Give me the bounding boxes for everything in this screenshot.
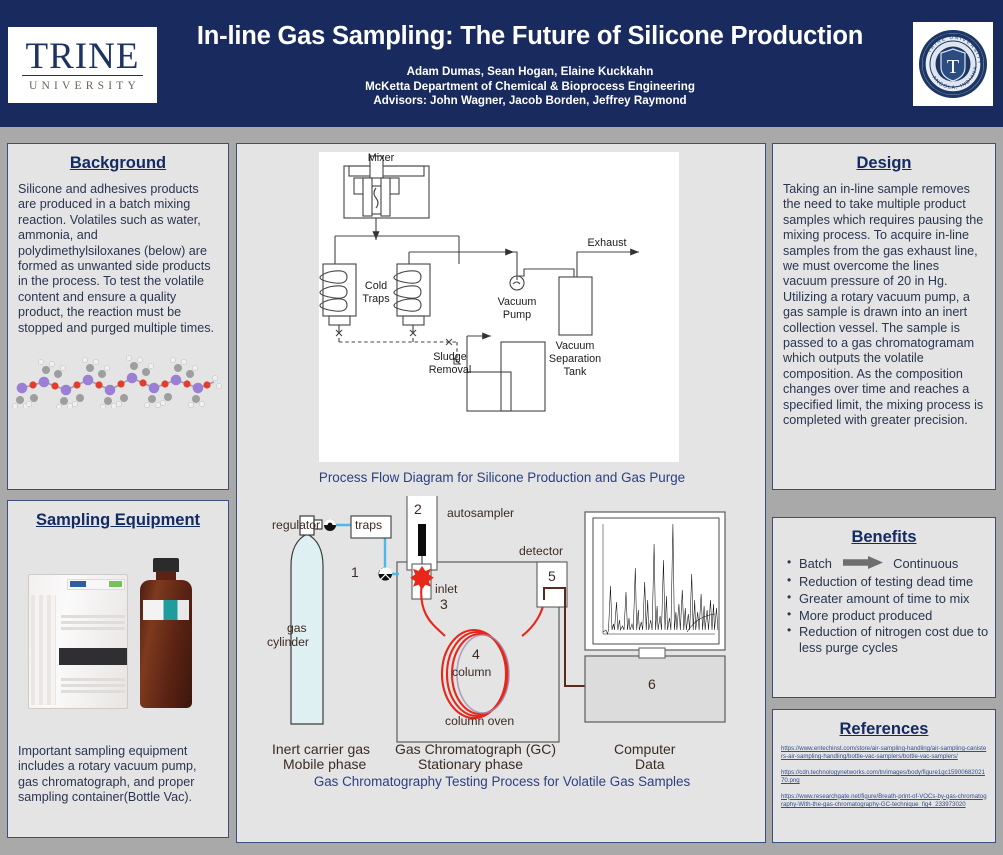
svg-text:Exhaust: Exhaust xyxy=(587,237,626,249)
svg-text:T: T xyxy=(947,56,959,78)
trine-university-seal: T TRINE UNIVERSITY ANGOLA, INDIANA xyxy=(913,22,993,106)
benefit-pre-0: Batch xyxy=(799,556,832,571)
svg-text:Mixer: Mixer xyxy=(368,152,395,164)
svg-text:Pump: Pump xyxy=(503,309,531,321)
reference-link-1[interactable]: https://www.entechinst.com/store/air-sam… xyxy=(781,745,987,762)
list-item: Reduction of nitrogen cost due to less p… xyxy=(785,624,989,656)
svg-text:Cold: Cold xyxy=(365,280,387,292)
poster-canvas: TRINE UNIVERSITY In-line Gas Sampling: T… xyxy=(0,0,1003,855)
panel-design: Design Taking an in-line sample removes … xyxy=(772,143,996,490)
department-line: McKetta Department of Chemical & Bioproc… xyxy=(170,80,890,95)
benefit-pre-4: Reduction of nitrogen cost due to less p… xyxy=(799,624,988,655)
trine-university-logo: TRINE UNIVERSITY xyxy=(8,27,157,103)
valve-2-icon xyxy=(379,568,393,581)
benefit-pre-2: Greater amount of time to mix xyxy=(799,591,970,606)
list-item: More product produced xyxy=(785,608,989,624)
logo-wordmark: TRINE xyxy=(22,38,144,76)
benefit-pre-1: Reduction of testing dead time xyxy=(799,574,973,589)
gc-label-regulator: regulator xyxy=(272,518,320,532)
gc-label-gc-2: Stationary phase xyxy=(418,756,523,772)
background-text: Silicone and adhesives products are prod… xyxy=(18,182,218,336)
svg-text:Tank: Tank xyxy=(564,366,587,378)
pfd-caption: Process Flow Diagram for Silicone Produc… xyxy=(237,470,767,485)
gc-label-1: 1 xyxy=(351,564,359,580)
benefits-list: Batch Continuous Reduction of testing de… xyxy=(785,556,989,656)
list-item: Greater amount of time to mix xyxy=(785,591,989,607)
pdms-molecule-image xyxy=(12,350,224,413)
sampling-text: Important sampling equipment includes a … xyxy=(18,744,218,806)
panel-sampling-equipment: Sampling Equipment Impo xyxy=(7,500,229,838)
process-flow-diagram: Mixer Cold Traps Vacuum Pump Vacuum Sepa… xyxy=(319,152,679,462)
sampling-title: Sampling Equipment xyxy=(8,511,228,530)
benefit-post-0: Continuous xyxy=(893,556,958,571)
gc-label-column: column xyxy=(452,665,491,679)
svg-text:Vacuum: Vacuum xyxy=(556,340,595,352)
page-title: In-line Gas Sampling: The Future of Sili… xyxy=(170,22,890,51)
gc-caption: Gas Chromatography Testing Process for V… xyxy=(237,774,767,789)
panel-references: References https://www.entechinst.com/st… xyxy=(772,709,996,843)
background-title: Background xyxy=(8,154,228,173)
panel-background: Background Silicone and adhesives produc… xyxy=(7,143,229,490)
panel-center-figures: Mixer Cold Traps Vacuum Pump Vacuum Sepa… xyxy=(236,143,766,843)
gc-graphic xyxy=(267,496,737,771)
bottle-vac-photo xyxy=(140,558,192,708)
reference-link-3[interactable]: https://www.researchgate.net/figure/Brea… xyxy=(781,793,987,810)
sampling-equipment-photos xyxy=(14,544,222,744)
svg-text:Traps: Traps xyxy=(362,293,390,305)
list-item: Reduction of testing dead time xyxy=(785,574,989,590)
molecule-graphic xyxy=(12,350,222,408)
seal-graphic: T TRINE UNIVERSITY ANGOLA, INDIANA xyxy=(916,25,990,103)
panel-benefits: Benefits Batch Continuous Reduction of t… xyxy=(772,517,996,698)
gc-label-gc-1: Gas Chromatograph (GC) xyxy=(395,741,556,757)
gc-label-inlet: inlet xyxy=(435,582,457,596)
svg-text:Vacuum: Vacuum xyxy=(498,296,537,308)
gc-label-column-oven: column oven xyxy=(445,714,514,728)
references-title: References xyxy=(773,720,995,739)
svg-text:Sludge: Sludge xyxy=(433,351,467,363)
gc-label-inert-1: Inert carrier gas xyxy=(272,741,370,757)
gc-label-3: 3 xyxy=(440,596,448,612)
benefits-title: Benefits xyxy=(773,528,995,547)
advisors-line: Advisors: John Wagner, Jacob Borden, Jef… xyxy=(170,94,890,109)
gc-label-comp-2: Data xyxy=(635,756,665,772)
design-text: Taking an in-line sample removes the nee… xyxy=(783,182,985,429)
gas-chromatograph-photo xyxy=(28,574,128,709)
reference-link-2[interactable]: https://cdn.technologynetworks.com/tn/im… xyxy=(781,769,987,786)
svg-text:Removal: Removal xyxy=(429,364,472,376)
gc-label-traps: traps xyxy=(355,518,382,532)
design-title: Design xyxy=(773,154,995,173)
gc-label-comp-1: Computer xyxy=(614,741,675,757)
gc-label-autosampler: autosampler xyxy=(447,506,514,520)
authors-line: Adam Dumas, Sean Hogan, Elaine Kuckkahn xyxy=(170,65,890,80)
svg-text:Separation: Separation xyxy=(549,353,601,365)
list-item: Batch Continuous xyxy=(785,556,989,573)
gc-label-cylinder: cylinder xyxy=(267,635,309,649)
valve-icon xyxy=(324,519,336,531)
gc-label-2: 2 xyxy=(414,501,422,517)
gas-chromatography-diagram: regulator traps 1 2 autosampler inlet 3 … xyxy=(267,496,737,771)
gc-label-6: 6 xyxy=(648,676,656,692)
header-text-block: In-line Gas Sampling: The Future of Sili… xyxy=(170,22,890,109)
benefit-pre-3: More product produced xyxy=(799,608,932,623)
gc-label-inert-2: Mobile phase xyxy=(283,756,366,772)
gc-label-5: 5 xyxy=(548,568,556,584)
gc-label-4: 4 xyxy=(472,646,480,662)
gc-label-gas: gas xyxy=(287,621,307,635)
logo-subtext: UNIVERSITY xyxy=(25,80,140,92)
poster-header: TRINE UNIVERSITY In-line Gas Sampling: T… xyxy=(0,0,1003,127)
pfd-graphic: Mixer Cold Traps Vacuum Pump Vacuum Sepa… xyxy=(319,152,679,462)
arrow-right-icon xyxy=(843,556,883,573)
gc-label-detector: detector xyxy=(519,544,563,558)
